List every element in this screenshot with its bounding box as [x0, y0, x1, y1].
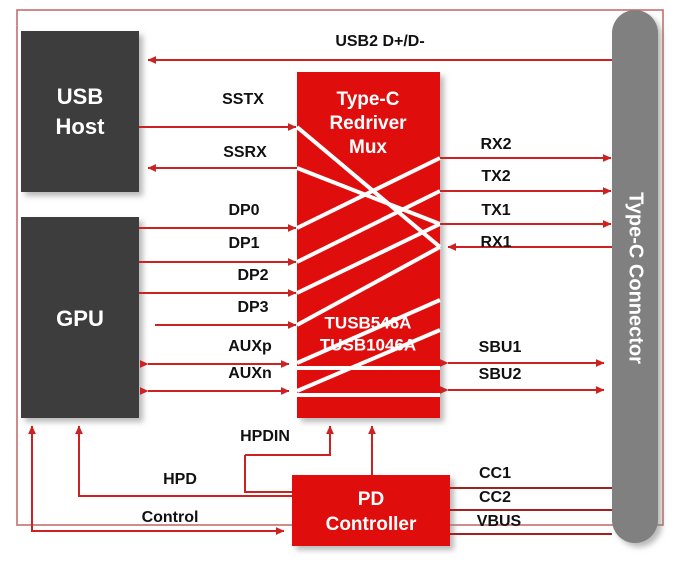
mux-slot-sbu2	[297, 393, 440, 397]
wire-dp1: DP1	[139, 235, 296, 262]
pd-controller-label-line1: PD	[358, 489, 384, 510]
signal-label-usb2: USB2 D+/D-	[335, 33, 424, 50]
mux-label-line3: Mux	[349, 137, 387, 158]
usb-host-label-line1: USB	[57, 84, 103, 109]
block-gpu: GPU	[21, 217, 139, 418]
mux-part-number-2: TUSB1046A	[320, 335, 416, 354]
signal-label-dp2: DP2	[237, 267, 268, 284]
gpu-label: GPU	[56, 306, 104, 331]
wire-auxp: AUXp	[148, 338, 289, 364]
signal-label-vbus: VBUS	[477, 513, 522, 530]
signal-label-dp0: DP0	[228, 202, 259, 219]
wire-vbus: VBUS	[450, 513, 612, 534]
signal-label-dp1: DP1	[228, 235, 259, 252]
wire-cc2: CC2	[450, 489, 612, 510]
signal-label-tx1: TX1	[481, 202, 510, 219]
wire-dp0: DP0	[139, 202, 296, 228]
wire-rx1: RX1	[448, 234, 612, 251]
wire-cc1: CC1	[450, 465, 612, 488]
signal-label-sbu2: SBU2	[479, 366, 522, 383]
wire-dp2: DP2	[139, 267, 296, 293]
signal-label-sstx: SSTX	[222, 91, 264, 108]
signal-label-control: Control	[142, 509, 199, 526]
block-pd-controller: PD Controller	[292, 475, 450, 546]
signal-label-rx1: RX1	[480, 234, 511, 251]
wire-tx1: TX1	[440, 202, 611, 224]
signal-label-hpdin: HPDIN	[240, 428, 290, 445]
type-c-connector-label: Type-C Connector	[625, 192, 647, 364]
signal-label-auxp: AUXp	[228, 338, 272, 355]
wire-sstx: SSTX	[139, 91, 296, 127]
signal-label-sbu1: SBU1	[479, 339, 522, 356]
signal-label-dp3: DP3	[237, 299, 268, 316]
block-usb-host: USB Host	[21, 31, 139, 192]
block-diagram: USB Host GPU Type-C Redri	[0, 0, 680, 562]
diagram-canvas: USB Host GPU Type-C Redri	[0, 0, 680, 562]
usb-host-label-line2: Host	[56, 114, 106, 139]
signal-label-hpd: HPD	[163, 471, 197, 488]
signal-label-cc1: CC1	[479, 465, 511, 482]
signal-label-tx2: TX2	[481, 168, 510, 185]
wire-sbu2: SBU2	[448, 366, 604, 390]
wire-dp3: DP3	[155, 299, 296, 325]
wire-usb2-dplus-dminus: USB2 D+/D-	[148, 33, 612, 60]
wire-tx2: TX2	[440, 168, 611, 191]
wire-sbu1: SBU1	[448, 339, 604, 363]
pd-controller-label-line2: Controller	[326, 514, 417, 535]
mux-part-number-1: TUSB546A	[325, 313, 412, 332]
block-type-c-connector: Type-C Connector	[612, 10, 658, 543]
signal-label-ssrx: SSRX	[223, 144, 267, 161]
block-redriver-mux: Type-C Redriver Mux TUSB546A TUSB1046A	[297, 72, 440, 418]
signal-label-rx2: RX2	[480, 136, 511, 153]
mux-label-line2: Redriver	[329, 113, 407, 134]
wire-ssrx: SSRX	[148, 144, 297, 168]
wire-auxn: AUXn	[148, 365, 289, 391]
signal-label-cc2: CC2	[479, 489, 511, 506]
signal-label-auxn: AUXn	[228, 365, 272, 382]
mux-label-line1: Type-C	[337, 89, 400, 110]
mux-slot-sbu1	[297, 366, 440, 370]
wire-rx2: RX2	[440, 136, 611, 158]
